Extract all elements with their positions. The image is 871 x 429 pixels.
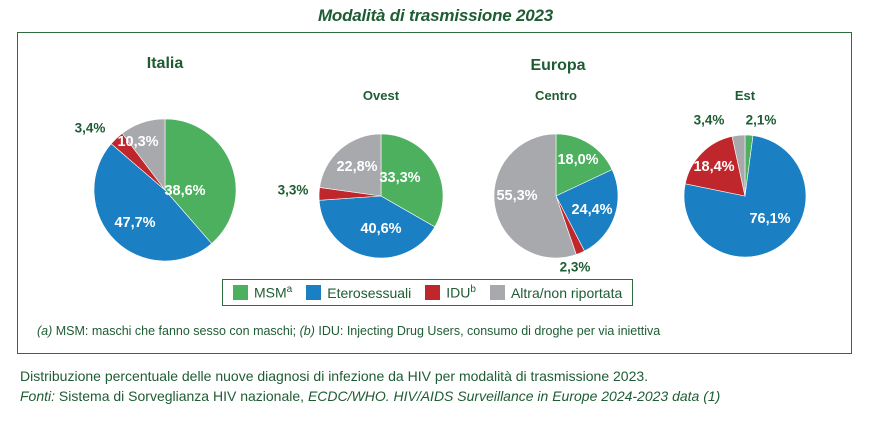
legend-swatch-idu bbox=[425, 285, 440, 300]
chart-legend: MSMaEterosessualiIDUbAltra/non riportata bbox=[222, 279, 633, 306]
page-title: Modalità di trasmissione 2023 bbox=[0, 6, 871, 26]
legend-label: Altra/non riportata bbox=[511, 286, 622, 300]
caption-source-reference: ECDC/WHO. HIV/AIDS Surveillance in Europ… bbox=[308, 388, 720, 404]
legend-swatch-eterosessuali bbox=[306, 285, 321, 300]
caption-source-text: Sistema di Sorveglianza HIV nazionale, bbox=[55, 388, 308, 404]
footnote-marker-b: (b) bbox=[300, 324, 315, 338]
legend-swatch-altra bbox=[490, 285, 505, 300]
legend-label: MSMa bbox=[254, 285, 292, 300]
subregion-title-ovest: Ovest bbox=[363, 88, 399, 103]
legend-label: Eterosessuali bbox=[327, 286, 411, 300]
region-title-europa: Europa bbox=[530, 57, 585, 75]
legend-item: Eterosessuali bbox=[306, 285, 411, 300]
legend-footnote-marker: a bbox=[287, 284, 293, 295]
footnote-text-b: IDU: Injecting Drug Users, consumo di dr… bbox=[315, 324, 660, 338]
subregion-title-est: Est bbox=[735, 88, 755, 103]
legend-item: MSMa bbox=[233, 285, 292, 300]
footnote-text-a: MSM: maschi che fanno sesso con maschi; bbox=[52, 324, 299, 338]
subregion-title-centro: Centro bbox=[535, 88, 577, 103]
region-title-italia: Italia bbox=[147, 55, 183, 73]
legend-label: IDUb bbox=[446, 285, 476, 300]
caption-source-label: Fonti: bbox=[20, 388, 55, 404]
footnote: (a) MSM: maschi che fanno sesso con masc… bbox=[37, 324, 660, 338]
legend-item: Altra/non riportata bbox=[490, 285, 622, 300]
legend-item: IDUb bbox=[425, 285, 476, 300]
footnote-marker-a: (a) bbox=[37, 324, 52, 338]
legend-footnote-marker: b bbox=[470, 284, 476, 295]
figure-caption: Distribuzione percentuale delle nuove di… bbox=[20, 366, 860, 407]
legend-swatch-msm bbox=[233, 285, 248, 300]
caption-line-2: Fonti: Sistema di Sorveglianza HIV nazio… bbox=[20, 386, 860, 406]
caption-line-1: Distribuzione percentuale delle nuove di… bbox=[20, 366, 860, 386]
